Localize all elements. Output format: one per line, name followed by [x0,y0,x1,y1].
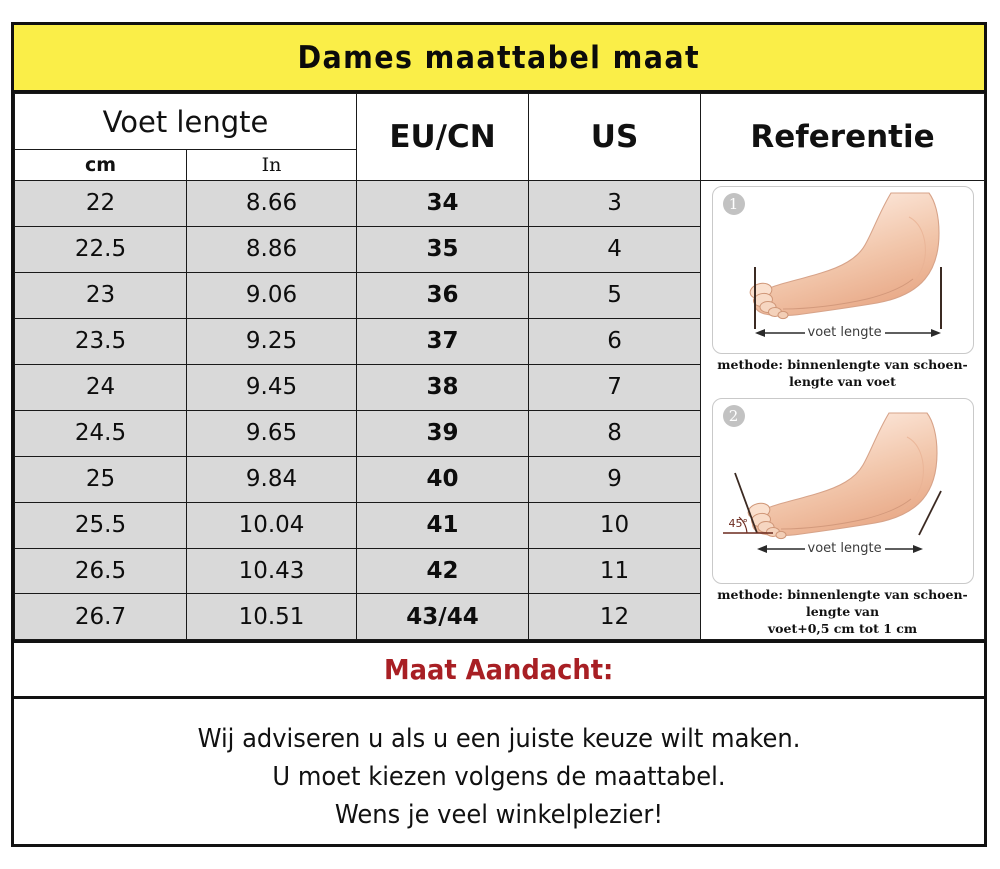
notes-section: Wij adviseren u als u een juiste keuze w… [14,699,984,834]
header-row-group: Voet lengte EU/CN US Referentie [15,94,985,150]
header-us: US [529,94,701,181]
cell-eu: 35 [357,226,529,272]
cell-in: 9.25 [187,318,357,364]
foot-illustration-1: 1 [712,186,974,354]
note-line-1: Wij adviseren u als u een juiste keuze w… [48,721,950,759]
cell-in: 10.43 [187,548,357,594]
cell-cm: 22.5 [15,226,187,272]
cell-in: 9.65 [187,410,357,456]
cell-in: 10.51 [187,594,357,640]
size-chart-frame: Dames maattabel maat Voet lengte EU/CN U… [11,22,987,847]
cell-in: 9.45 [187,364,357,410]
reference-block-2: 2 [701,393,984,640]
cell-in: 10.04 [187,502,357,548]
cell-us: 7 [529,364,701,410]
step-number-2-icon: 2 [723,405,745,427]
measure-label-1: voet lengte [805,325,885,340]
cell-eu: 34 [357,181,529,227]
cell-eu: 42 [357,548,529,594]
cell-us: 3 [529,181,701,227]
cell-cm: 26.7 [15,594,187,640]
header-referentie: Referentie [701,94,985,181]
note-line-2: U moet kiezen volgens de maattabel. [48,759,950,797]
cell-us: 10 [529,502,701,548]
reference-caption-1: methode: binnenlengte van schoen-lengte … [701,354,984,393]
cell-eu: 39 [357,410,529,456]
header-cm: cm [15,150,187,181]
header-voet-lengte: Voet lengte [15,94,357,150]
header-in: In [187,150,357,181]
cell-us: 11 [529,548,701,594]
cell-in: 8.66 [187,181,357,227]
angle-label-45: 45° [729,517,749,530]
cell-eu: 40 [357,456,529,502]
reference-caption-2-line1: methode: binnenlengte van schoen-lengte … [705,587,980,621]
cell-cm: 25 [15,456,187,502]
title-band: Dames maattabel maat [14,25,984,93]
cell-cm: 23 [15,272,187,318]
measure-label-2: voet lengte [805,541,885,556]
cell-eu: 41 [357,502,529,548]
reference-stack: 1 [701,181,984,639]
step-number-1-icon: 1 [723,193,745,215]
cell-cm: 24 [15,364,187,410]
cell-eu: 38 [357,364,529,410]
cell-eu: 36 [357,272,529,318]
attention-heading: Maat Aandacht: [384,653,613,686]
cell-cm: 24.5 [15,410,187,456]
page-title: Dames maattabel maat [298,40,701,76]
cell-us: 4 [529,226,701,272]
cell-in: 9.84 [187,456,357,502]
size-table: Voet lengte EU/CN US Referentie cm In 22… [14,93,985,640]
table-head: Voet lengte EU/CN US Referentie cm In [15,94,985,181]
attention-band: Maat Aandacht: [14,640,984,699]
foot-illustration-2: 2 [712,398,974,584]
reference-block-1: 1 [701,181,984,393]
cell-cm: 22 [15,181,187,227]
cell-us: 12 [529,594,701,640]
header-eu-cn: EU/CN [357,94,529,181]
foot-diagram-2-icon [713,399,974,584]
cell-cm: 23.5 [15,318,187,364]
note-line-3: Wens je veel winkelplezier! [48,797,950,835]
cell-us: 6 [529,318,701,364]
cell-in: 9.06 [187,272,357,318]
reference-caption-2-line2: voet+0,5 cm tot 1 cm [705,621,980,638]
cell-us: 9 [529,456,701,502]
reference-caption-2: methode: binnenlengte van schoen-lengte … [701,584,984,640]
cell-us: 8 [529,410,701,456]
cell-eu: 43/44 [357,594,529,640]
cell-eu: 37 [357,318,529,364]
table-body: 22 8.66 34 3 1 [15,181,985,640]
size-chart-page: Dames maattabel maat Voet lengte EU/CN U… [0,0,1000,869]
reference-illustrations: 1 [701,181,985,640]
cell-in: 8.86 [187,226,357,272]
table-row: 22 8.66 34 3 1 [15,181,985,227]
cell-cm: 26.5 [15,548,187,594]
cell-cm: 25.5 [15,502,187,548]
cell-us: 5 [529,272,701,318]
